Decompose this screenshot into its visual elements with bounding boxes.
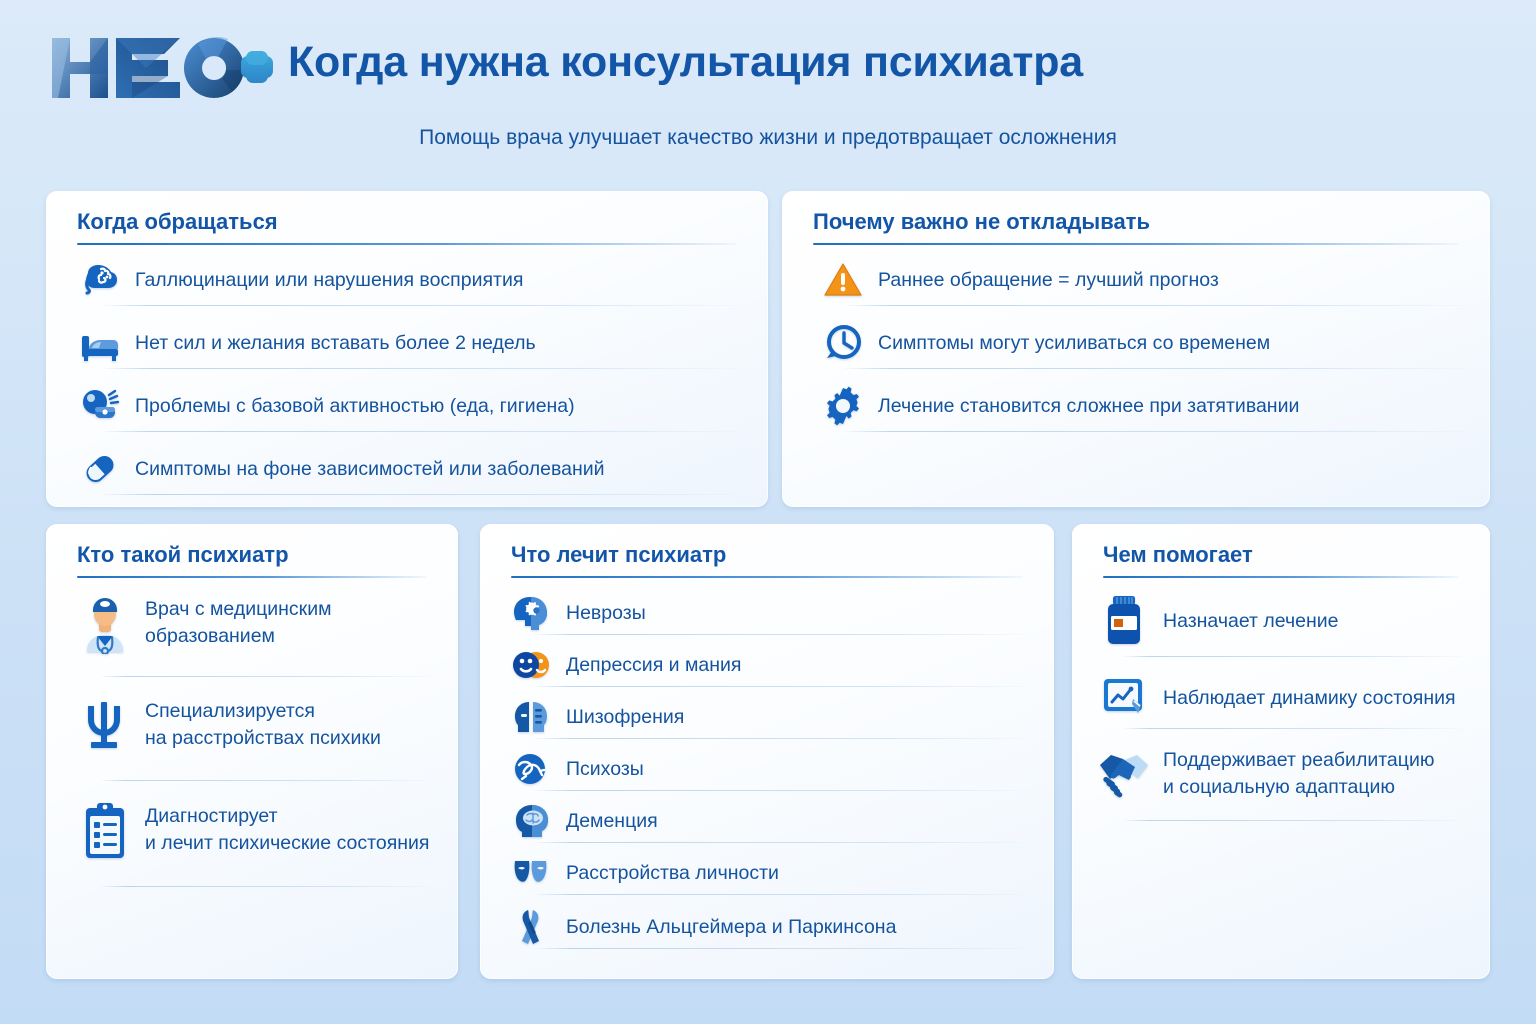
tangled-mind-icon — [508, 746, 554, 792]
list-item-label: Специализируется на расстройствах психик… — [145, 698, 381, 752]
divider — [532, 948, 1028, 949]
list-item: Галлюцинации или нарушения восприятия — [77, 257, 742, 303]
list-item: Специализируется на расстройствах психик… — [77, 696, 437, 754]
list-item-label: Депрессия и мания — [566, 652, 741, 679]
list-item-label: Галлюцинации или нарушения восприятия — [135, 267, 523, 294]
list-item: Назначает лечение — [1097, 592, 1477, 650]
awareness-ribbon-icon — [508, 904, 554, 950]
list-item: Раннее обращение = лучший прогноз — [820, 257, 1470, 303]
card-title: Что лечит психиатр — [511, 542, 726, 568]
card-title: Почему важно не откладывать — [813, 209, 1150, 235]
card-what-psychiatrist-treats: Что лечит психиатр Неврозы — [480, 524, 1054, 979]
list-item: Симптомы на фоне зависимостей или заболе… — [77, 446, 742, 492]
divider — [100, 780, 430, 781]
bed-icon — [77, 320, 123, 366]
card-title: Кто такой психиатр — [77, 542, 289, 568]
list-item-label: Наблюдает динамику состояния — [1163, 685, 1456, 712]
list-item-label: Психозы — [566, 756, 644, 783]
divider — [842, 431, 1468, 432]
list-item: Депрессия и мания — [508, 642, 1028, 688]
list-item: Проблемы с базовой активностью (еда, гиг… — [77, 383, 742, 429]
card-how-it-helps: Чем помогает Назначает лечение — [1072, 524, 1490, 979]
list-item-label: Назначает лечение — [1163, 608, 1338, 635]
hygiene-food-icon — [77, 383, 123, 429]
card-when-to-seek-help: Когда обращаться Галлюцинации или наруше… — [46, 191, 768, 507]
list-item: Врач с медицинским образованием — [77, 592, 437, 654]
divider — [100, 886, 430, 887]
clock-icon — [820, 320, 866, 366]
chart-monitor-icon — [1097, 672, 1151, 724]
list-item: Симптомы могут усиливаться со временем — [820, 320, 1470, 366]
head-brain-icon — [508, 798, 554, 844]
list-item: Наблюдает динамику состояния — [1097, 672, 1477, 724]
card-title-rule — [1103, 576, 1459, 578]
card-why-not-delay: Почему важно не откладывать Раннее обращ… — [782, 191, 1490, 507]
list-item-label: Симптомы могут усиливаться со временем — [878, 330, 1270, 357]
split-head-icon — [508, 694, 554, 740]
infographic-page: Когда нужна консультация психиатра Помощ… — [0, 0, 1536, 1024]
card-title-rule — [77, 243, 737, 245]
list-item: Нет сил и желания вставать более 2 недел… — [77, 320, 742, 366]
list-item-label: Поддерживает реабилитацию и социальную а… — [1163, 747, 1434, 801]
theatre-masks-icon — [508, 850, 554, 896]
medicine-bottle-icon — [1097, 592, 1151, 650]
divider — [532, 894, 1028, 895]
list-item-label: Неврозы — [566, 600, 646, 627]
doctor-avatar-icon — [77, 592, 133, 654]
list-item: Шизофрения — [508, 694, 1028, 740]
card-title-rule — [511, 576, 1023, 578]
list-item: Психозы — [508, 746, 1028, 792]
card-title: Когда обращаться — [77, 209, 278, 235]
list-item: Диагностирует и лечит психические состоя… — [77, 800, 437, 860]
card-title-rule — [813, 243, 1459, 245]
list-item-label: Болезнь Альцгеймера и Паркинсона — [566, 914, 896, 941]
divider — [532, 790, 1028, 791]
divider — [842, 368, 1468, 369]
divider — [100, 494, 740, 495]
list-item-label: Симптомы на фоне зависимостей или заболе… — [135, 456, 605, 483]
list-item-label: Проблемы с базовой активностью (еда, гиг… — [135, 393, 575, 420]
handshake-icon — [1097, 746, 1151, 802]
card-title-rule — [77, 576, 427, 578]
clipboard-icon — [77, 800, 133, 860]
list-item-label: Диагностирует и лечит психические состоя… — [145, 803, 429, 857]
list-item: Лечение становится сложнее при затятиван… — [820, 383, 1470, 429]
brain-icon — [77, 257, 123, 303]
card-title: Чем помогает — [1103, 542, 1253, 568]
list-item-label: Шизофрения — [566, 704, 684, 731]
divider — [1122, 656, 1462, 657]
list-item-label: Расстройства личности — [566, 860, 779, 887]
neo-plus-logo — [46, 34, 274, 102]
divider — [532, 738, 1028, 739]
divider — [100, 431, 740, 432]
list-item: Деменция — [508, 798, 1028, 844]
page-title: Когда нужна консультация психиатра — [288, 38, 1083, 87]
list-item-label: Лечение становится сложнее при затятиван… — [878, 393, 1299, 420]
gear-icon — [820, 383, 866, 429]
header: Когда нужна консультация психиатра Помощ… — [0, 0, 1536, 170]
warning-triangle-icon — [820, 257, 866, 303]
card-who-is-psychiatrist: Кто такой психиатр Врач с медицинским об… — [46, 524, 458, 979]
list-item: Расстройства личности — [508, 850, 1028, 896]
divider — [100, 368, 740, 369]
divider — [100, 305, 740, 306]
list-item: Неврозы — [508, 590, 1028, 636]
head-gear-icon — [508, 590, 554, 636]
divider — [532, 634, 1028, 635]
list-item-label: Деменция — [566, 808, 658, 835]
list-item: Поддерживает реабилитацию и социальную а… — [1097, 746, 1477, 802]
divider — [100, 676, 430, 677]
divider — [1122, 820, 1462, 821]
page-subtitle: Помощь врача улучшает качество жизни и п… — [0, 126, 1536, 150]
divider — [842, 305, 1468, 306]
psi-symbol-icon — [77, 696, 133, 754]
divider — [532, 842, 1028, 843]
divider — [532, 686, 1028, 687]
two-faces-icon — [508, 642, 554, 688]
pill-capsule-icon — [77, 446, 123, 492]
divider — [1122, 728, 1462, 729]
list-item-label: Раннее обращение = лучший прогноз — [878, 267, 1219, 294]
list-item-label: Врач с медицинским образованием — [145, 596, 332, 650]
list-item-label: Нет сил и желания вставать более 2 недел… — [135, 330, 536, 357]
list-item: Болезнь Альцгеймера и Паркинсона — [508, 904, 1028, 950]
